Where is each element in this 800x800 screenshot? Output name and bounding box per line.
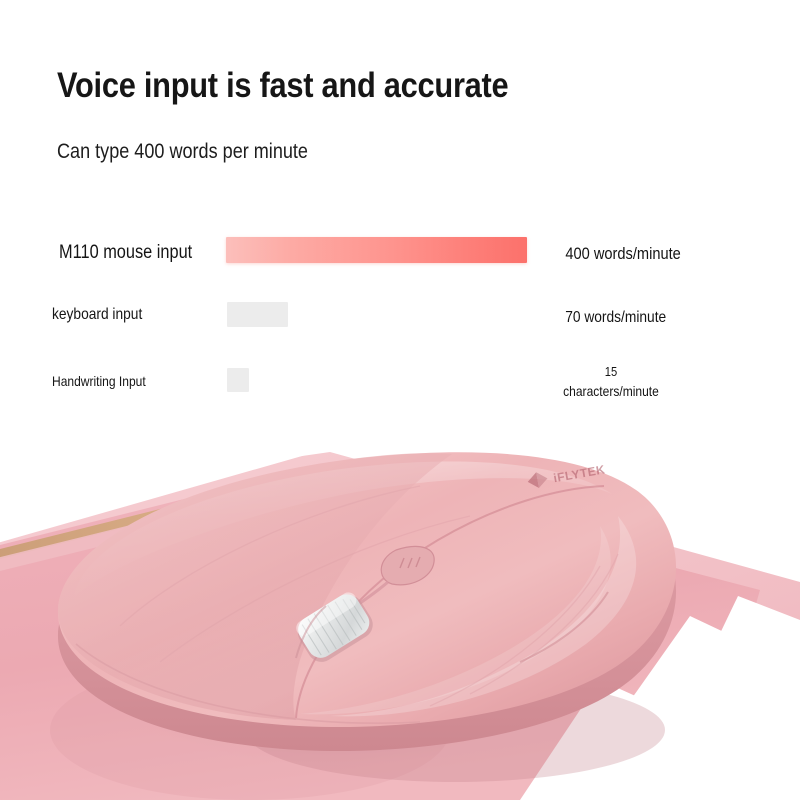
bar-fill-mouse: [226, 237, 527, 263]
chart-row-label: keyboard input: [52, 306, 142, 324]
chart-row-label: Handwriting Input: [52, 373, 146, 389]
bar-track: [227, 368, 249, 392]
bar-fill-handwriting: [227, 368, 249, 392]
chart-row-value: 70 words/minute: [565, 308, 666, 328]
chart-row-value-unit: characters/minute: [555, 383, 667, 401]
bar-fill-keyboard: [227, 302, 288, 327]
speed-comparison-chart: M110 mouse input 400 words/minute keyboa…: [0, 0, 800, 430]
chart-row-label: M110 mouse input: [59, 242, 192, 264]
product-photo: iFLYTEK: [0, 430, 800, 800]
bar-track: [226, 237, 527, 263]
chart-row-value: 400 words/minute: [565, 243, 680, 264]
chart-row-value: 15: [564, 364, 659, 380]
bar-track: [227, 302, 288, 327]
